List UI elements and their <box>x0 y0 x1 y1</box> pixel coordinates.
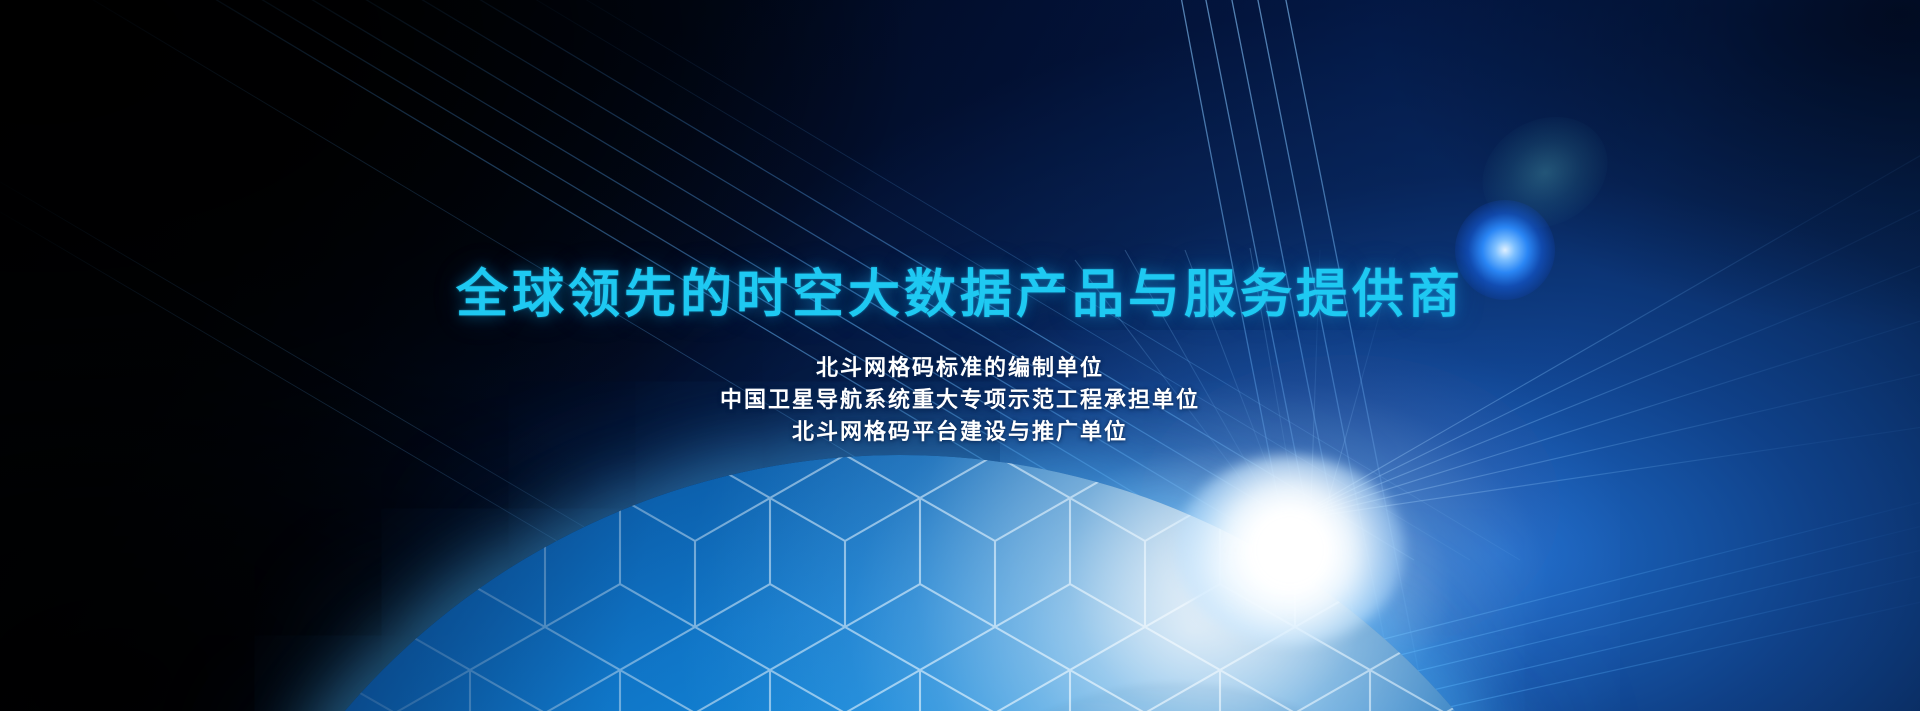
page-title: 全球领先的时空大数据产品与服务提供商 <box>0 252 1920 327</box>
subtitle-line-1: 北斗网格码标准的编制单位 <box>0 352 1920 384</box>
earth-globe <box>170 455 1630 711</box>
subtitle-list: 北斗网格码标准的编制单位 中国卫星导航系统重大专项示范工程承担单位 北斗网格码平… <box>0 352 1920 448</box>
subtitle-line-3: 北斗网格码平台建设与推广单位 <box>0 416 1920 448</box>
subtitle-line-2: 中国卫星导航系统重大专项示范工程承担单位 <box>0 384 1920 416</box>
sun-core <box>1175 455 1405 645</box>
hexagonal-grid-overlay <box>170 455 1630 711</box>
hero-banner: 全球领先的时空大数据产品与服务提供商 北斗网格码标准的编制单位 中国卫星导航系统… <box>0 0 1920 711</box>
